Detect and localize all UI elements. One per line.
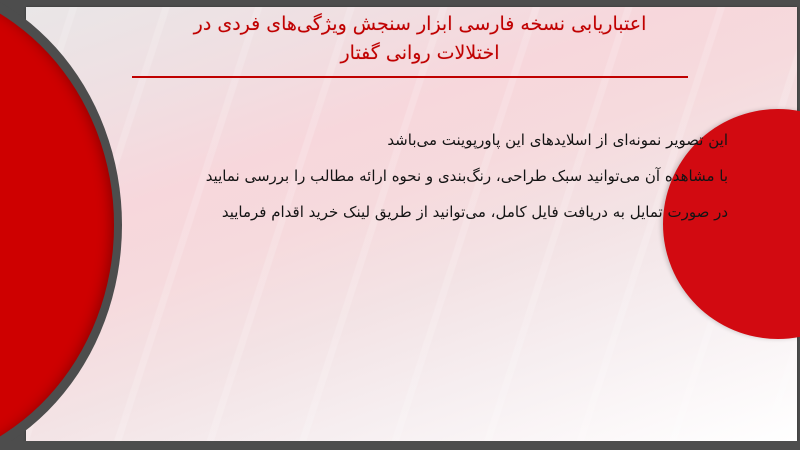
body-line-1: این تصویر نمونه‌ای از اسلایدهای این پاور… xyxy=(88,122,728,158)
title-line-2: اختلالات روانی گفتار xyxy=(120,39,720,68)
bottom-frame-strip xyxy=(0,441,800,450)
title-divider xyxy=(132,76,688,78)
slide-title: اعتباریابی نسخه فارسی ابزار سنجش ویژگی‌ه… xyxy=(120,10,720,68)
body-line-3: در صورت تمایل به دریافت فایل کامل، می‌تو… xyxy=(88,194,728,230)
title-line-1: اعتباریابی نسخه فارسی ابزار سنجش ویژگی‌ه… xyxy=(120,10,720,39)
body-line-2: با مشاهده آن می‌توانید سبک طراحی، رنگ‌بن… xyxy=(88,158,728,194)
slide-body-text: این تصویر نمونه‌ای از اسلایدهای این پاور… xyxy=(88,122,728,230)
presentation-slide: اعتباریابی نسخه فارسی ابزار سنجش ویژگی‌ه… xyxy=(0,0,800,450)
